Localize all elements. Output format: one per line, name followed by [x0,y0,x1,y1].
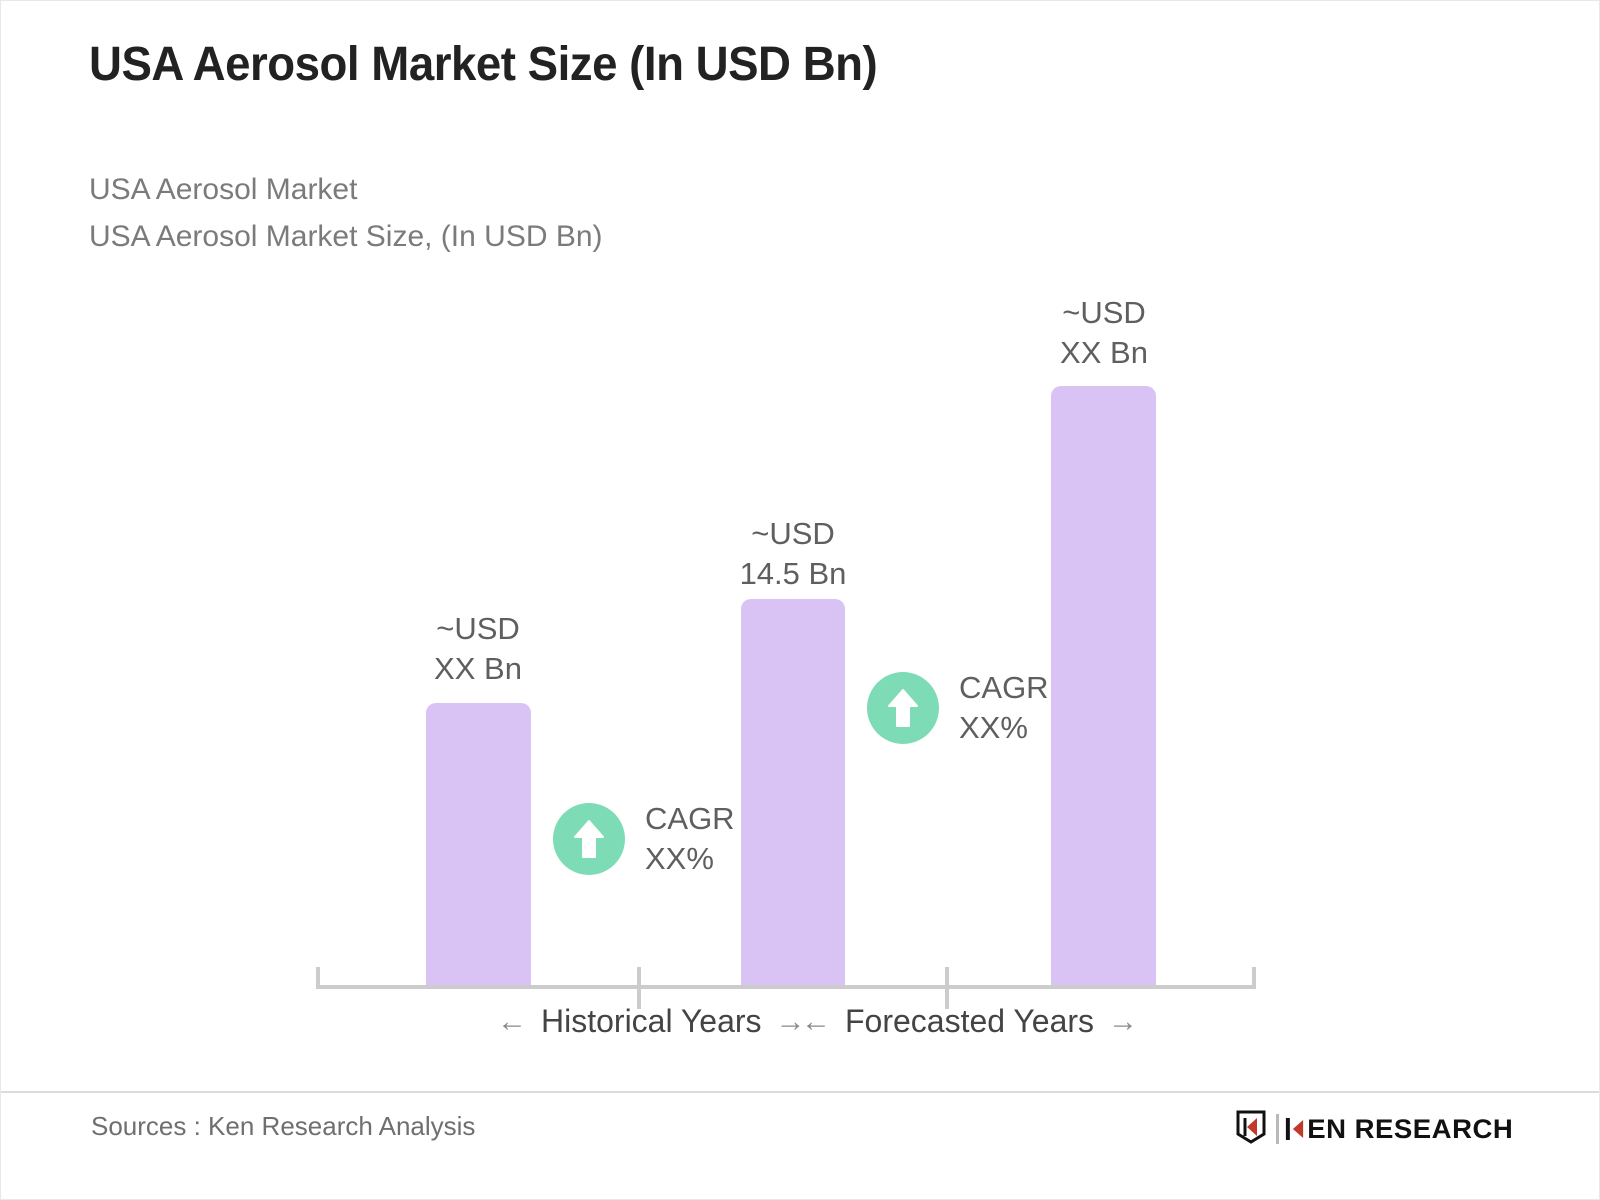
chart-page: USA Aerosol Market Size (In USD Bn) USA … [0,0,1600,1200]
arrow-up-icon [867,672,939,744]
cagr-annotation-text: CAGR XX% [959,668,1049,748]
bar-label-line-2: 14.5 Bn [693,554,893,594]
axis-section-label-text: Historical Years [541,1003,762,1040]
cagr-label: CAGR [645,799,735,839]
cagr-label: CAGR [959,668,1049,708]
bar-label-base-year: ~USD 14.5 Bn [693,514,893,594]
ken-research-logo: EN RESEARCH [1235,1111,1511,1147]
x-axis-right-cap [1252,967,1256,989]
logo-wordmark-text: EN RESEARCH [1307,1114,1513,1145]
arrow-right-icon: → [1108,1007,1138,1037]
bar-label-historical: ~USD XX Bn [378,609,578,689]
bar-chart-plot-area: ~USD XX Bn ~USD 14.5 Bn ~USD XX Bn CAGR … [1,1,1600,1200]
bar-historical [426,703,531,986]
cagr-value: XX% [645,839,735,879]
logo-wordmark: EN RESEARCH [1286,1114,1513,1145]
cagr-value: XX% [959,708,1049,748]
x-axis-left-cap [316,967,320,989]
axis-section-label-text: Forecasted Years [845,1003,1094,1040]
bar-label-line-2: XX Bn [1004,333,1204,373]
logo-divider [1276,1114,1279,1144]
axis-section-historical: ← Historical Years → [497,1003,806,1040]
bar-label-line-2: XX Bn [378,649,578,689]
cagr-annotation-1: CAGR XX% [553,799,735,879]
axis-section-forecasted: ← Forecasted Years → [801,1003,1138,1040]
x-axis-line [316,985,1256,989]
arrow-up-icon [553,803,625,875]
arrow-left-icon: ← [497,1007,527,1037]
ken-research-shield-icon [1235,1110,1267,1149]
bar-label-forecasted: ~USD XX Bn [1004,293,1204,373]
bar-label-line-1: ~USD [1004,293,1204,333]
bar-label-line-1: ~USD [378,609,578,649]
bar-base-year [741,599,845,986]
arrow-left-icon: ← [801,1007,831,1037]
bar-label-line-1: ~USD [693,514,893,554]
bar-forecasted [1051,386,1156,986]
source-note: Sources : Ken Research Analysis [91,1111,475,1142]
cagr-annotation-2: CAGR XX% [867,668,1049,748]
footer-divider [1,1091,1600,1093]
cagr-annotation-text: CAGR XX% [645,799,735,879]
